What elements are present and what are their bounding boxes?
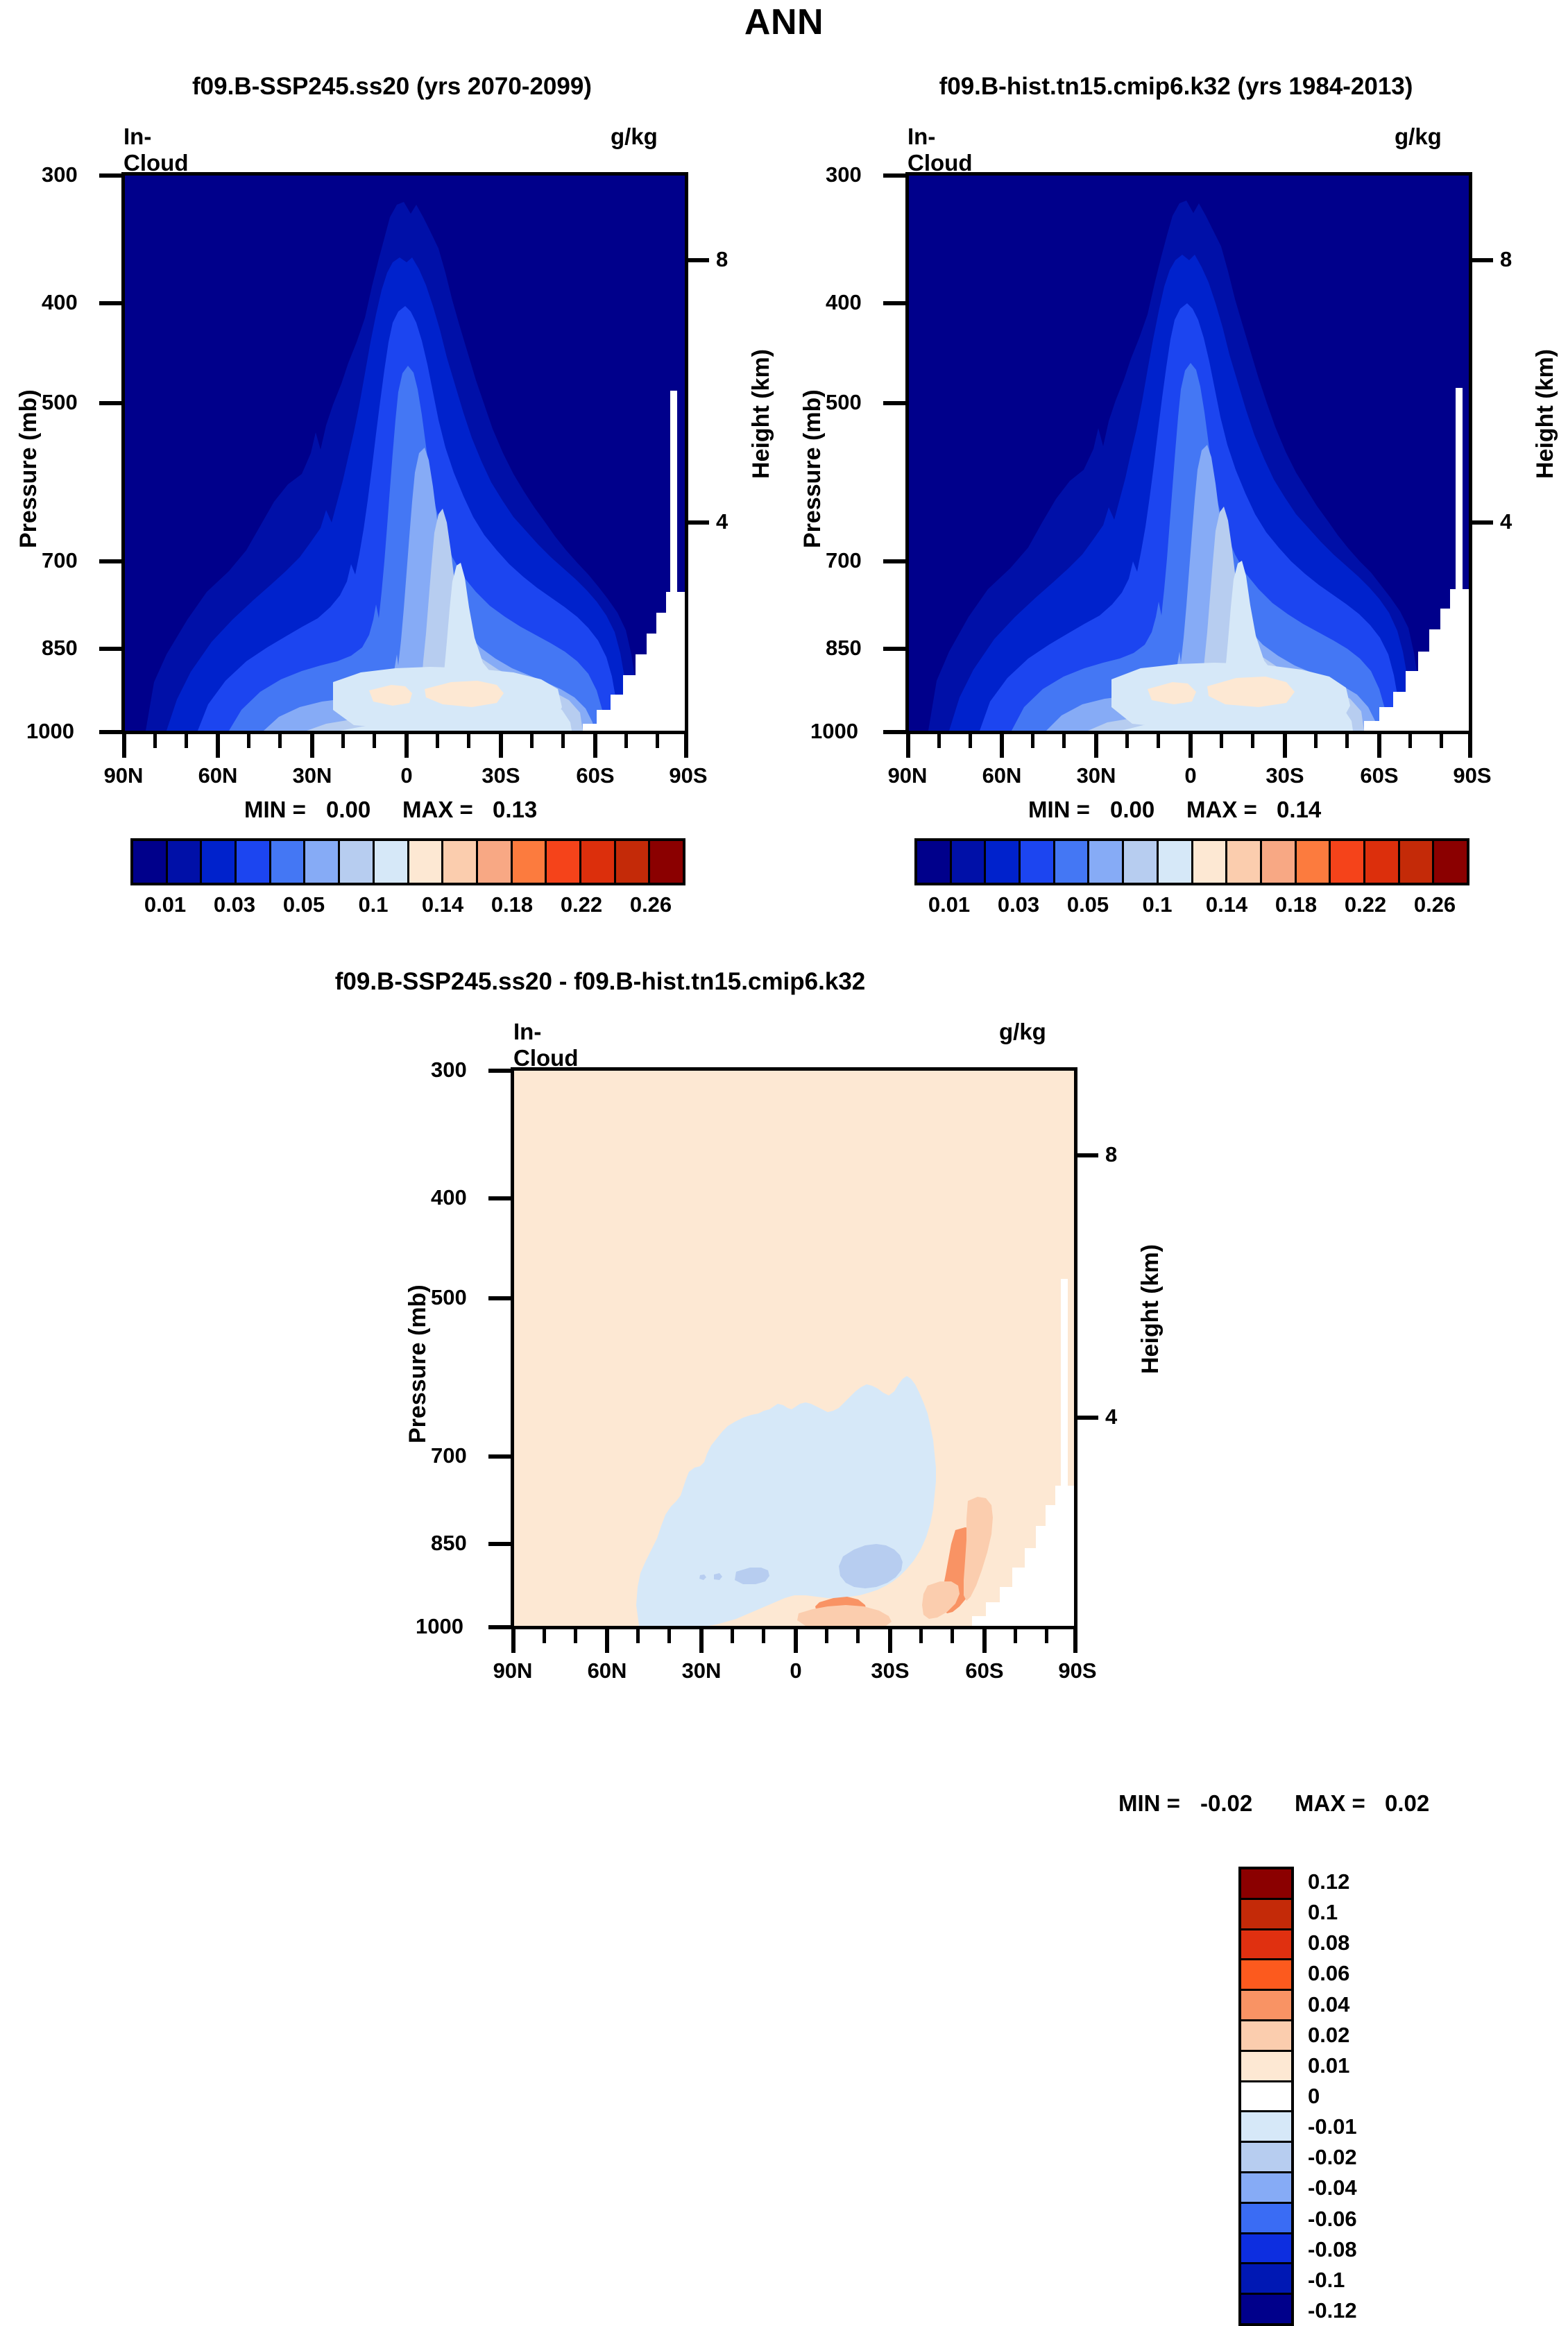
- panel-bottom-diff-xlabel-90N: 90N: [482, 1658, 544, 1683]
- diff-colorbar-swatch-2: [1241, 1930, 1291, 1961]
- panel-top-left-ytick-400: [99, 301, 123, 305]
- colorbar-swatch-1: [168, 841, 203, 883]
- panel-bottom-diff-min-label: MIN =: [1118, 1790, 1180, 1817]
- panel-top-right-xtick-30N: [1094, 734, 1098, 758]
- panel-top-left-ytick-500: [99, 401, 123, 405]
- panel-top-left-max-label: MAX =: [402, 797, 473, 823]
- panel-bottom-diff-xlabel-30N: 30N: [670, 1658, 733, 1683]
- panel-top-right-xtick-m7: [1220, 734, 1223, 748]
- colorbar-tick-label-0: 0.01: [144, 892, 186, 917]
- panel-top-left-xtick-m2: [185, 734, 188, 748]
- panel-top-left-ylabel-1000: 1000: [26, 719, 74, 744]
- panel-top-right-xtick-m9: [1314, 734, 1318, 748]
- colorbar-swatch-7: [1159, 841, 1193, 883]
- diff-colorbar-swatch-8: [1241, 2112, 1291, 2143]
- colorbar-swatch-5: [305, 841, 340, 883]
- panel-bottom-diff-xtick-30N: [699, 1629, 704, 1653]
- colorbar-swatch-13: [1365, 841, 1400, 883]
- panel-top-right-max-value: 0.14: [1277, 797, 1321, 823]
- panel-top-left-title: f09.B-SSP245.ss20 (yrs 2070-2099): [0, 73, 784, 101]
- panel-top-right-xtick-m8: [1251, 734, 1254, 748]
- panel-bottom-diff-y2tick-4: [1076, 1416, 1098, 1420]
- diff-colorbar-tick-label-1: 0.1: [1308, 1900, 1412, 1925]
- diff-colorbar-swatch-0: [1241, 1869, 1291, 1900]
- panel-top-left-y2label-4: 4: [716, 509, 728, 534]
- colorbar-tick-label-7: 0.26: [630, 892, 672, 917]
- diff-colorbar-tick-label-5: 0.02: [1308, 2023, 1412, 2048]
- panel-bottom-diff-xtick-60N: [605, 1629, 609, 1653]
- panel-top-left-xtick-m1: [153, 734, 157, 748]
- colorbar-tick-label-3: 0.1: [358, 892, 388, 917]
- panel-top-left-xtick-0: [404, 734, 409, 758]
- panel-top-left-xtick-m8: [467, 734, 470, 748]
- panel-top-left-ylabel-850: 850: [42, 636, 78, 661]
- panel-bottom-diff-colorbar[interactable]: [1238, 1867, 1294, 2326]
- panel-top-right-ytick-300: [883, 173, 907, 178]
- colorbar-tick-label-1: 0.03: [998, 892, 1039, 917]
- colorbar-swatch-7: [375, 841, 409, 883]
- panel-top-right-ytick-400: [883, 301, 907, 305]
- diff-colorbar-tick-label-12: -0.08: [1308, 2237, 1412, 2262]
- panel-bottom-diff-xtick-m11: [1014, 1629, 1017, 1643]
- colorbar-swatch-12: [547, 841, 581, 883]
- panel-bottom-diff-xtick-m3: [636, 1629, 640, 1643]
- colorbar-tick-label-5: 0.18: [1275, 892, 1317, 917]
- colorbar-swatch-8: [409, 841, 444, 883]
- panel-bottom-diff-xtick-60S: [982, 1629, 987, 1653]
- panel-bottom-diff-xlabel-30S: 30S: [859, 1658, 921, 1683]
- panel-bottom-diff-ytick-1000: [488, 1625, 512, 1629]
- panel-bottom-diff-xlabel-90S: 90S: [1046, 1658, 1109, 1683]
- panel-top-left-y2-axis-title: Height (km): [748, 349, 775, 479]
- panel-top-left-y2tick-4: [687, 520, 709, 525]
- panel-bottom-diff-ytick-850: [488, 1542, 512, 1546]
- diff-colorbar-swatch-10: [1241, 2173, 1291, 2204]
- panel-top-left-xtick-90N: [122, 734, 126, 758]
- colorbar-tick-label-3: 0.1: [1142, 892, 1172, 917]
- panel-top-right-xtick-90S: [1468, 734, 1472, 758]
- diff-colorbar-tick-label-0: 0.12: [1308, 1869, 1412, 1894]
- diff-colorbar-tick-label-3: 0.06: [1308, 1961, 1412, 1986]
- panel-bottom-diff-xtick-m6: [762, 1629, 765, 1643]
- diff-colorbar-tick-label-2: 0.08: [1308, 1930, 1412, 1955]
- panel-top-left-ylabel-400: 400: [42, 290, 78, 315]
- colorbar-tick-label-2: 0.05: [283, 892, 325, 917]
- panel-top-right-y2label-4: 4: [1500, 509, 1512, 534]
- colorbar-swatch-9: [443, 841, 478, 883]
- panel-bottom-diff-xtick-m5: [731, 1629, 734, 1643]
- panel-top-right-title: f09.B-hist.tn15.cmip6.k32 (yrs 1984-2013…: [784, 73, 1568, 101]
- diff-colorbar-tick-label-6: 0.01: [1308, 2053, 1412, 2078]
- panel-bottom-diff-xtick-90S: [1073, 1629, 1077, 1653]
- panel-top-left-min-label: MIN =: [244, 797, 306, 823]
- panel-top-right-ylabel-850: 850: [826, 636, 862, 661]
- diff-colorbar-swatch-11: [1241, 2204, 1291, 2234]
- panel-bottom-diff-xtick-90N: [511, 1629, 515, 1653]
- panel-top-left-xtick-m5: [341, 734, 345, 748]
- colorbar-swatch-4: [271, 841, 306, 883]
- panel-top-left-colorbar-labels: 0.010.030.050.10.140.180.220.26: [130, 892, 685, 924]
- panel-top-right-xtick-m2: [969, 734, 972, 748]
- panel-bottom-diff-xtick-m10: [951, 1629, 954, 1643]
- colorbar-swatch-12: [1331, 841, 1365, 883]
- colorbar-swatch-0: [133, 841, 168, 883]
- diff-colorbar-swatch-1: [1241, 1900, 1291, 1930]
- diff-colorbar-tick-label-7: 0: [1308, 2084, 1412, 2109]
- colorbar-swatch-10: [1262, 841, 1297, 883]
- panel-bottom-diff-y-axis-title: Pressure (mb): [404, 1284, 432, 1443]
- panel-top-left-xtick-m7: [436, 734, 439, 748]
- panel-top-right-xtick-m12: [1440, 734, 1443, 748]
- panel-bottom-diff-xtick-m2: [574, 1629, 577, 1643]
- panel-bottom-diff-ylabel-400: 400: [431, 1185, 467, 1210]
- panel-top-right-xlabel-60N: 60N: [971, 763, 1033, 788]
- panel-top-left-xlabel-90N: 90N: [92, 763, 155, 788]
- diff-colorbar-swatch-5: [1241, 2021, 1291, 2052]
- panel-top-right-ytick-850: [883, 647, 907, 651]
- panel-bottom-diff-xtick-30S: [888, 1629, 892, 1653]
- panel-top-left-units-label: g/kg: [611, 124, 658, 150]
- panel-top-right-xlabel-0: 0: [1159, 763, 1222, 788]
- panel-top-left-xtick-30S: [499, 734, 503, 758]
- panel-bottom-diff-contour-field: [514, 1071, 1074, 1626]
- panel-top-right-min-value: 0.00: [1110, 797, 1154, 823]
- panel-bottom-diff-y2tick-8: [1076, 1153, 1098, 1157]
- panel-top-right-ylabel-500: 500: [826, 390, 862, 415]
- diff-colorbar-swatch-14: [1241, 2295, 1291, 2323]
- colorbar-swatch-0: [917, 841, 952, 883]
- colorbar-tick-label-4: 0.14: [422, 892, 463, 917]
- panel-top-left-plot-area: [121, 172, 688, 734]
- panel-top-left-ytick-1000: [99, 730, 123, 734]
- panel-top-left-xtick-m10: [561, 734, 565, 748]
- panel-top-right-xtick-0: [1188, 734, 1193, 758]
- panel-bottom-diff-ylabel-700: 700: [431, 1443, 467, 1468]
- colorbar-tick-label-4: 0.14: [1206, 892, 1247, 917]
- colorbar-swatch-3: [1021, 841, 1055, 883]
- colorbar-swatch-6: [1124, 841, 1159, 883]
- panel-bottom-diff-y2label-4: 4: [1105, 1404, 1117, 1429]
- panel-bottom-diff-colorbar-labels: 0.120.10.080.060.040.020.010-0.01-0.02-0…: [1308, 1867, 1419, 2326]
- diff-colorbar-swatch-4: [1241, 1991, 1291, 2021]
- panel-bottom-diff-ylabel-850: 850: [431, 1531, 467, 1556]
- panel-top-left-colorbar[interactable]: [130, 838, 685, 885]
- diff-colorbar-tick-label-9: -0.02: [1308, 2145, 1412, 2170]
- panel-top-right-colorbar[interactable]: [914, 838, 1469, 885]
- colorbar-swatch-14: [616, 841, 651, 883]
- colorbar-swatch-14: [1400, 841, 1435, 883]
- panel-top-left-xlabel-0: 0: [375, 763, 438, 788]
- colorbar-swatch-15: [1434, 841, 1467, 883]
- panel-bottom-diff-y2-axis-title: Height (km): [1137, 1244, 1164, 1374]
- panel-top-right-plot-area: [905, 172, 1472, 734]
- panel-top-right-max-label: MAX =: [1186, 797, 1257, 823]
- panel-top-right-xtick-60S: [1377, 734, 1381, 758]
- panel-bottom-diff-title: f09.B-SSP245.ss20 - f09.B-hist.tn15.cmip…: [208, 968, 992, 996]
- panel-top-right-xtick-m1: [937, 734, 941, 748]
- panel-top-right-y2tick-4: [1471, 520, 1493, 525]
- panel-bottom-diff-xlabel-60S: 60S: [953, 1658, 1016, 1683]
- panel-bottom-diff-ytick-300: [488, 1069, 512, 1073]
- panel-bottom-diff-max-value: 0.02: [1385, 1790, 1429, 1817]
- panel-bottom-diff-plot-area: [511, 1067, 1077, 1629]
- panel-top-left-xtick-30N: [310, 734, 314, 758]
- colorbar-swatch-13: [581, 841, 616, 883]
- panel-top-left-max-value: 0.13: [493, 797, 537, 823]
- panel-bottom-diff-xtick-m9: [919, 1629, 923, 1643]
- colorbar-tick-label-7: 0.26: [1414, 892, 1456, 917]
- panel-top-right-units-label: g/kg: [1395, 124, 1442, 150]
- panel-top-right-y-axis-title: Pressure (mb): [799, 389, 826, 548]
- diff-colorbar-tick-label-4: 0.04: [1308, 1992, 1412, 2017]
- panel-top-right-xlabel-30S: 30S: [1254, 763, 1316, 788]
- panel-top-left-ylabel-700: 700: [42, 548, 78, 573]
- panel-bottom-diff-ytick-400: [488, 1196, 512, 1200]
- colorbar-swatch-4: [1055, 841, 1090, 883]
- diff-colorbar-swatch-12: [1241, 2234, 1291, 2265]
- diff-colorbar-tick-label-14: -0.12: [1308, 2298, 1412, 2323]
- diff-colorbar-tick-label-13: -0.1: [1308, 2268, 1412, 2293]
- panel-top-left-ytick-700: [99, 559, 123, 563]
- colorbar-tick-label-1: 0.03: [214, 892, 255, 917]
- colorbar-tick-label-2: 0.05: [1067, 892, 1109, 917]
- panel-top-left-xtick-m9: [530, 734, 534, 748]
- panel-bottom-diff-ylabel-300: 300: [431, 1058, 467, 1083]
- panel-top-right-xtick-m5: [1125, 734, 1129, 748]
- diff-colorbar-swatch-9: [1241, 2143, 1291, 2173]
- panel-bottom-diff-y2label-8: 8: [1105, 1142, 1117, 1167]
- panel-bottom-diff-xtick-m12: [1045, 1629, 1048, 1643]
- panel-top-right-ytick-700: [883, 559, 907, 563]
- panel-top-right-y2-axis-title: Height (km): [1532, 349, 1559, 479]
- panel-top-left-xtick-m4: [278, 734, 282, 748]
- panel-bottom-diff-ylabel-500: 500: [431, 1285, 467, 1310]
- diff-colorbar-swatch-3: [1241, 1960, 1291, 1991]
- panel-top-right-xtick-m10: [1345, 734, 1349, 748]
- panel-bottom-diff-xtick-m4: [667, 1629, 671, 1643]
- panel-top-right-ylabel-300: 300: [826, 162, 862, 187]
- panel-top-right-ylabel-1000: 1000: [810, 719, 858, 744]
- panel-top-right-xtick-30S: [1283, 734, 1287, 758]
- panel-top-left-xtick-60S: [593, 734, 597, 758]
- colorbar-tick-label-6: 0.22: [561, 892, 602, 917]
- panel-top-right-y2tick-8: [1471, 258, 1493, 262]
- panel-top-right-min-label: MIN =: [1028, 797, 1090, 823]
- panel-top-left-ytick-850: [99, 647, 123, 651]
- panel-top-left-xtick-m6: [373, 734, 376, 748]
- main-title: ANN: [0, 1, 1568, 43]
- panel-top-left-y2tick-8: [687, 258, 709, 262]
- panel-bottom-diff-min-value: -0.02: [1200, 1790, 1252, 1817]
- colorbar-swatch-2: [202, 841, 237, 883]
- panel-top-left-xtick-90S: [684, 734, 688, 758]
- diff-colorbar-tick-label-11: -0.06: [1308, 2207, 1412, 2232]
- panel-top-left-xlabel-60S: 60S: [564, 763, 627, 788]
- panel-top-left-xlabel-90S: 90S: [657, 763, 719, 788]
- panel-bottom-diff-xtick-m7: [825, 1629, 828, 1643]
- panel-top-right-xlabel-30N: 30N: [1065, 763, 1127, 788]
- panel-top-right-ytick-1000: [883, 730, 907, 734]
- panel-top-right-xlabel-60S: 60S: [1348, 763, 1411, 788]
- colorbar-swatch-10: [478, 841, 513, 883]
- panel-bottom-diff-xtick-0: [794, 1629, 798, 1653]
- colorbar-tick-label-6: 0.22: [1345, 892, 1386, 917]
- colorbar-swatch-2: [986, 841, 1021, 883]
- colorbar-swatch-11: [1297, 841, 1331, 883]
- panel-top-left-xtick-60N: [216, 734, 220, 758]
- panel-top-left-min-value: 0.00: [326, 797, 370, 823]
- colorbar-swatch-3: [237, 841, 271, 883]
- diff-colorbar-tick-label-10: -0.04: [1308, 2175, 1412, 2200]
- panel-top-left-y-axis-title: Pressure (mb): [15, 389, 42, 548]
- colorbar-tick-label-0: 0.01: [928, 892, 970, 917]
- colorbar-swatch-5: [1089, 841, 1124, 883]
- panel-top-right-ylabel-700: 700: [826, 548, 862, 573]
- panel-top-right-contour-field: [909, 176, 1469, 731]
- diff-colorbar-tick-label-8: -0.01: [1308, 2114, 1412, 2139]
- panel-bottom-diff-ytick-500: [488, 1296, 512, 1300]
- panel-top-right-ylabel-400: 400: [826, 290, 862, 315]
- panel-top-left-xtick-m12: [656, 734, 659, 748]
- panel-top-right-xtick-60N: [1000, 734, 1004, 758]
- panel-top-left-ylabel-300: 300: [42, 162, 78, 187]
- panel-top-right-xlabel-90S: 90S: [1441, 763, 1503, 788]
- panel-top-right-colorbar-labels: 0.010.030.050.10.140.180.220.26: [914, 892, 1469, 924]
- diff-colorbar-swatch-6: [1241, 2052, 1291, 2082]
- panel-top-left-xlabel-30S: 30S: [470, 763, 532, 788]
- panel-top-right-xtick-m4: [1062, 734, 1066, 748]
- panel-bottom-diff-ylabel-1000: 1000: [416, 1614, 463, 1639]
- panel-top-right-xtick-m11: [1408, 734, 1412, 748]
- colorbar-swatch-8: [1193, 841, 1228, 883]
- panel-top-right-xlabel-90N: 90N: [876, 763, 939, 788]
- panel-top-right-xtick-m6: [1157, 734, 1160, 748]
- panel-top-left-contour-field: [125, 176, 685, 731]
- colorbar-swatch-11: [513, 841, 547, 883]
- colorbar-swatch-6: [340, 841, 375, 883]
- panel-top-left-ytick-300: [99, 173, 123, 178]
- panel-top-left-xtick-m11: [624, 734, 628, 748]
- panel-top-left-xtick-m3: [247, 734, 250, 748]
- panel-top-left-y2label-8: 8: [716, 247, 728, 272]
- panel-bottom-diff-xlabel-0: 0: [765, 1658, 827, 1683]
- panel-top-left-ylabel-500: 500: [42, 390, 78, 415]
- panel-bottom-diff-xtick-m8: [856, 1629, 860, 1643]
- colorbar-swatch-15: [650, 841, 683, 883]
- panel-top-right-xtick-90N: [906, 734, 910, 758]
- panel-bottom-diff-xlabel-60N: 60N: [576, 1658, 638, 1683]
- panel-top-right-y2label-8: 8: [1500, 247, 1512, 272]
- panel-bottom-diff-ytick-700: [488, 1454, 512, 1459]
- colorbar-swatch-1: [952, 841, 987, 883]
- panel-top-left-xlabel-30N: 30N: [281, 763, 343, 788]
- panel-top-right-ytick-500: [883, 401, 907, 405]
- panel-bottom-diff-xtick-m1: [543, 1629, 546, 1643]
- diff-colorbar-swatch-13: [1241, 2264, 1291, 2295]
- colorbar-tick-label-5: 0.18: [491, 892, 533, 917]
- panel-top-right-xtick-m3: [1031, 734, 1034, 748]
- panel-bottom-diff-units-label: g/kg: [999, 1019, 1046, 1045]
- diff-colorbar-swatch-7: [1241, 2082, 1291, 2113]
- colorbar-swatch-9: [1227, 841, 1262, 883]
- panel-top-left-xlabel-60N: 60N: [187, 763, 249, 788]
- panel-bottom-diff-max-label: MAX =: [1295, 1790, 1365, 1817]
